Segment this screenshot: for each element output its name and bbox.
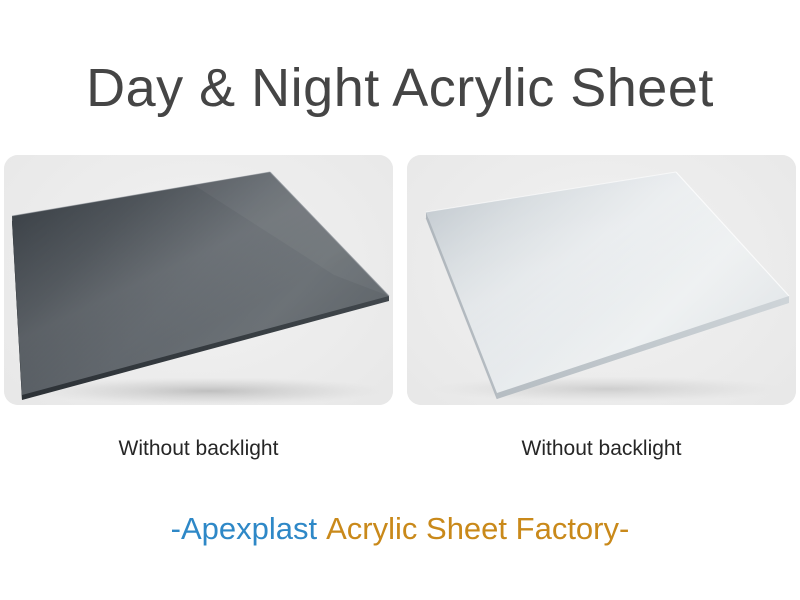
page-title: Day & Night Acrylic Sheet xyxy=(0,56,800,120)
product-image-panels xyxy=(4,155,796,405)
caption-night: Without backlight xyxy=(4,432,393,466)
caption-day: Without backlight xyxy=(407,432,796,466)
poster-canvas: Day & Night Acrylic Sheet xyxy=(0,0,800,600)
light-acrylic-sheet-image xyxy=(407,155,796,405)
footer-brand-name: -Apexplast xyxy=(171,511,317,546)
product-panel-day xyxy=(407,155,796,405)
footer-branding: -ApexplastAcrylic Sheet Factory- xyxy=(0,508,800,550)
panel-captions: Without backlight Without backlight xyxy=(0,432,800,472)
footer-tagline: Acrylic Sheet Factory- xyxy=(326,511,629,546)
dark-acrylic-sheet-image xyxy=(4,155,393,405)
product-panel-night xyxy=(4,155,393,405)
